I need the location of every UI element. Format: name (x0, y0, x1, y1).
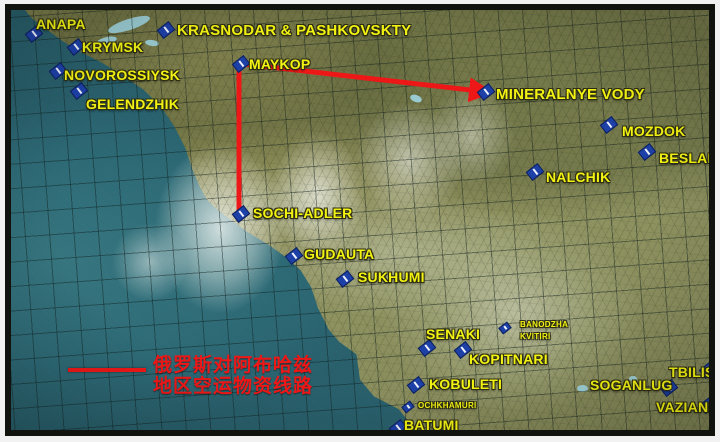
map-canvas[interactable]: ANAPAKRYMSKKRASNODAR & PASHKOVSKTYNOVORO… (11, 10, 709, 430)
image-frame: ANAPAKRYMSKKRASNODAR & PASHKOVSKTYNOVORO… (0, 0, 720, 442)
scan-noise-overlay (11, 10, 709, 430)
map-bezel: ANAPAKRYMSKKRASNODAR & PASHKOVSKTYNOVORO… (5, 4, 715, 436)
